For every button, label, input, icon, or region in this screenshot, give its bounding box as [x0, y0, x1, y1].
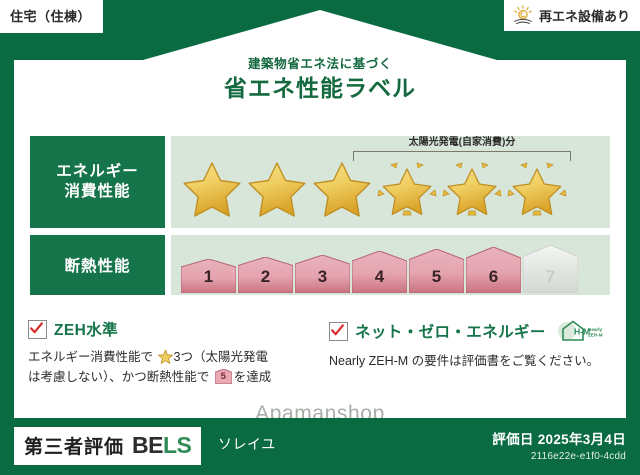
- bels-en-part2: LS: [163, 432, 191, 458]
- solar-bracket-icon: [353, 151, 571, 161]
- star-filled-3: [311, 159, 373, 217]
- insulation-label: 断熱性能: [64, 254, 130, 276]
- building-type-label: 住宅（住棟）: [10, 9, 91, 24]
- star-solar-5: [441, 159, 503, 217]
- evaluation-id: 2116e22e-e1f0-4cdd: [492, 451, 626, 462]
- insulation-level-3-number: 3: [295, 267, 350, 287]
- insulation-level-7-number: 7: [523, 267, 578, 287]
- footer-bar: 第三者評価 BELS ソレイユ 評価日 2025年3月4日 2116e22e-e…: [0, 418, 640, 475]
- renewable-equipment-badge: 再エネ設備あり: [504, 0, 640, 31]
- inline-star-icon: [158, 349, 173, 364]
- criterion-zeh-header: ZEH水準: [28, 318, 311, 340]
- star-filled-1: [181, 159, 243, 217]
- zeh-standard-body: エネルギー消費性能で 3つ（太陽光発電 は考慮しない）、かつ断熱性能で 5 を達…: [28, 347, 311, 388]
- zeh-body-part1: エネルギー消費性能で: [28, 350, 153, 364]
- solar-annotation: 太陽光発電(自家消費)分: [353, 138, 571, 161]
- svg-text:ZEH-M: ZEH-M: [588, 332, 603, 337]
- star-solar-4: [376, 159, 438, 217]
- evaluation-info: 評価日 2025年3月4日 2116e22e-e1f0-4cdd: [492, 428, 626, 462]
- inline-insulation-badge-number: 5: [215, 369, 232, 384]
- insulation-level-5: 5: [409, 249, 464, 293]
- insulation-performance-row: 断熱性能: [30, 235, 610, 295]
- building-type-tag: 住宅（住棟）: [0, 0, 103, 33]
- zeh-standard-title: ZEH水準: [54, 318, 118, 340]
- insulation-level-6: 6: [466, 247, 521, 293]
- star-filled-2: [246, 159, 308, 217]
- bels-en-part1: BE: [132, 432, 163, 458]
- title-main: 省エネ性能ラベル: [0, 77, 640, 100]
- insulation-level-scale: 1 2 3: [171, 233, 578, 297]
- insulation-level-2-number: 2: [238, 267, 293, 287]
- criterion-zeh-standard: ZEH水準 エネルギー消費性能で 3つ（太陽光発電 は考慮しない）、かつ断熱性能…: [28, 318, 311, 388]
- insulation-level-6-number: 6: [466, 267, 521, 287]
- criteria-section: ZEH水準 エネルギー消費性能で 3つ（太陽光発電 は考慮しない）、かつ断熱性能…: [28, 318, 612, 388]
- sun-renewable-icon: [512, 5, 534, 25]
- zeh-body-part3: を達成: [234, 370, 272, 384]
- svg-text:Nearly: Nearly: [588, 327, 602, 332]
- bels-en-label: BELS: [132, 432, 191, 459]
- bels-jp-label: 第三者評価: [24, 432, 124, 459]
- insulation-level-4-number: 4: [352, 267, 407, 287]
- insulation-level-4: 4: [352, 251, 407, 293]
- evaluation-date: 評価日 2025年3月4日: [492, 428, 626, 448]
- property-name: ソレイユ: [218, 434, 276, 454]
- zeh-m-house-logo: H-M Nearly ZEH-M: [555, 318, 607, 344]
- criterion-net-zero-energy: ネット・ゼロ・エネルギー H-M Nearly ZEH-M Nearly ZEH…: [329, 318, 612, 388]
- zeh-standard-checkbox[interactable]: [28, 320, 47, 339]
- bels-certification-badge: 第三者評価 BELS: [14, 427, 201, 465]
- insulation-level-5-number: 5: [409, 267, 464, 287]
- energy-performance-label: 住宅（住棟） 再エネ設備あり 建築物省エネ法に基づく 省エネ性能ラベル: [0, 0, 640, 475]
- insulation-level-1: 1: [181, 259, 236, 293]
- insulation-level-7: 7: [523, 245, 578, 293]
- energy-label-line2: 消費性能: [64, 182, 130, 202]
- insulation-performance-row-value: 1 2 3: [171, 235, 610, 295]
- zeh-body-part2: は考慮しない）、かつ断熱性能で: [28, 370, 209, 384]
- criterion-nze-header: ネット・ゼロ・エネルギー H-M Nearly ZEH-M: [329, 318, 612, 344]
- label-title-block: 建築物省エネ法に基づく 省エネ性能ラベル: [0, 58, 640, 100]
- net-zero-energy-title: ネット・ゼロ・エネルギー: [355, 320, 546, 342]
- energy-performance-row: エネルギー 消費性能 太陽光発電(自家消費)分: [30, 136, 610, 228]
- renewable-badge-label: 再エネ設備あり: [539, 6, 630, 25]
- net-zero-energy-body: Nearly ZEH-M の要件は評価書をご覧ください。: [329, 351, 612, 371]
- solar-annotation-label: 太陽光発電(自家消費)分: [353, 138, 571, 148]
- energy-star-rating: [171, 159, 568, 217]
- energy-performance-row-label: エネルギー 消費性能: [30, 136, 165, 228]
- insulation-performance-row-label: 断熱性能: [30, 235, 165, 295]
- star-solar-6: [506, 159, 568, 217]
- insulation-level-3: 3: [295, 255, 350, 293]
- insulation-level-2: 2: [238, 257, 293, 293]
- title-subtitle: 建築物省エネ法に基づく: [0, 58, 640, 71]
- inline-insulation-badge-icon: 5: [215, 369, 232, 384]
- net-zero-energy-checkbox[interactable]: [329, 322, 348, 341]
- energy-label-line1: エネルギー: [56, 162, 139, 182]
- performance-rows: エネルギー 消費性能 太陽光発電(自家消費)分: [30, 136, 610, 302]
- insulation-level-1-number: 1: [181, 267, 236, 287]
- zeh-body-star-text: 3つ（太陽光発電: [174, 350, 268, 364]
- energy-performance-row-value: 太陽光発電(自家消費)分: [171, 136, 610, 228]
